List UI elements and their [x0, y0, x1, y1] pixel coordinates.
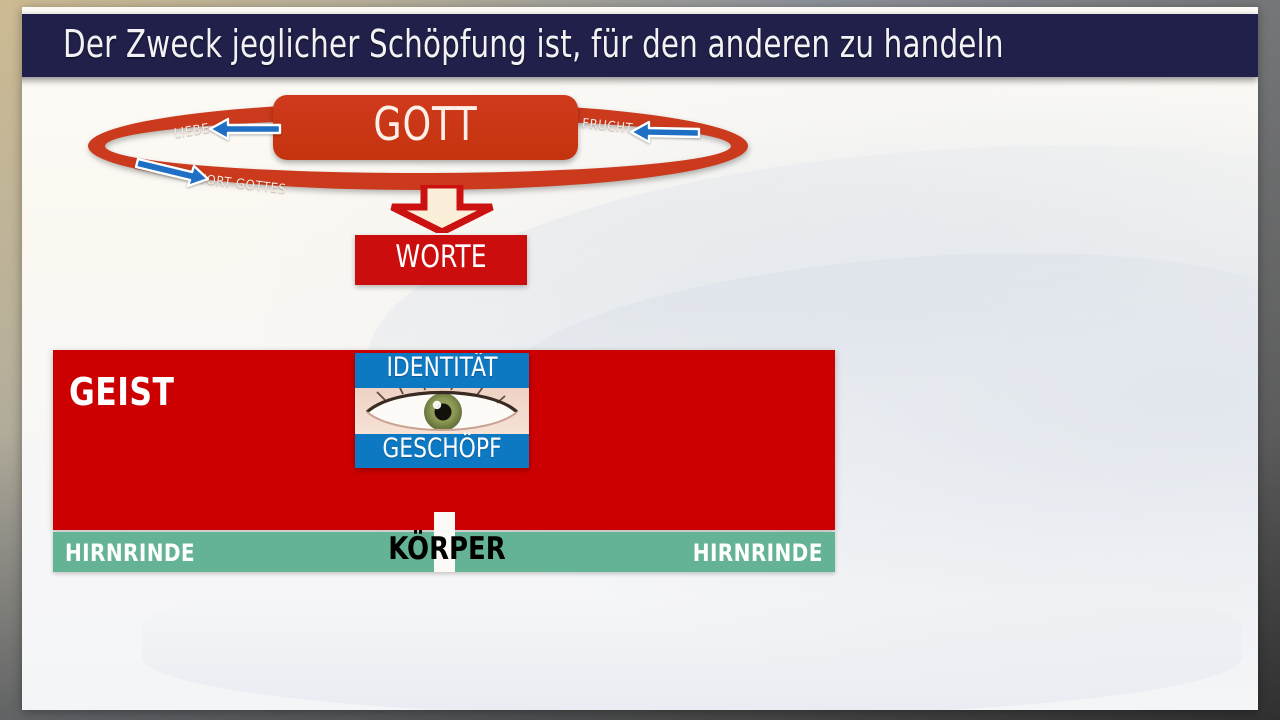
cortex-left-label: HIRNRINDE — [65, 539, 195, 567]
page-title: Der Zweck jeglicher Schöpfung ist, für d… — [63, 22, 1004, 66]
arrow-left-icon-liebe — [208, 116, 282, 142]
creature-label: GESCHÖPF — [364, 433, 521, 464]
god-box-label: GOTT — [291, 97, 559, 151]
spirit-block-label: GEIST — [69, 370, 174, 414]
identity-creature-box: IDENTITÄT — [355, 353, 529, 468]
words-box-label: WORTE — [364, 239, 519, 275]
spirit-block-notch — [434, 512, 455, 532]
cortex-right-label: HIRNRINDE — [693, 539, 823, 567]
arrow-right-icon-wort-gottes — [132, 157, 210, 187]
arrow-down-icon — [374, 185, 510, 233]
words-box: WORTE — [355, 235, 527, 285]
slide-surface: Der Zweck jeglicher Schöpfung ist, für d… — [22, 7, 1258, 710]
god-box: GOTT — [273, 95, 578, 160]
creature-band: GESCHÖPF — [355, 434, 529, 468]
slide-title-bar: Der Zweck jeglicher Schöpfung ist, für d… — [22, 14, 1258, 77]
body-label: KÖRPER — [382, 531, 512, 567]
identity-label: IDENTITÄT — [364, 353, 521, 383]
background-swoosh-3 — [142, 567, 1242, 710]
eye-icon — [355, 388, 529, 434]
slide-stage: Der Zweck jeglicher Schöpfung ist, für d… — [0, 0, 1280, 720]
identity-band: IDENTITÄT — [355, 353, 529, 388]
arrow-left-icon-frucht — [629, 119, 701, 145]
